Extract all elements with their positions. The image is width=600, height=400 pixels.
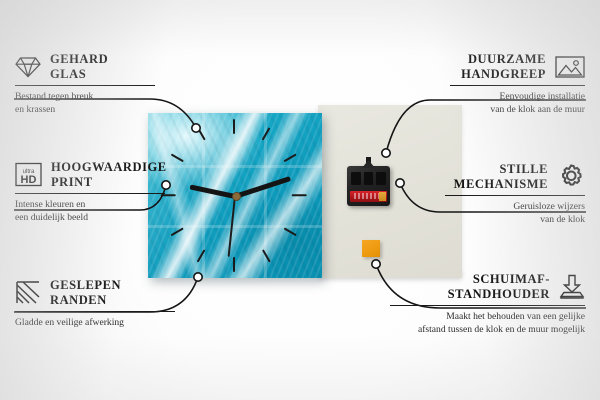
diamond-icon (15, 56, 41, 78)
feature-high-quality-print: ultra HD HOOGWAARDIGE PRINT Intense kleu… (15, 160, 165, 224)
feature-silent-mechanism: STILLE MECHANISME Geruisloze wijzers van… (445, 162, 585, 226)
feature-title: GEHARD GLAS (50, 52, 108, 81)
feature-divider (445, 195, 585, 196)
feature-head: GEHARD GLAS (15, 52, 155, 81)
feature-description: Bestand tegen breuk en krassen (15, 91, 155, 116)
connector-tempered-glass (192, 124, 200, 132)
picture-frame-icon (555, 55, 585, 79)
feature-tempered-glass: GEHARD GLAS Bestand tegen breuk en krass… (15, 52, 155, 116)
connector-durable-hanger (382, 149, 390, 157)
feature-description: Eenvoudige installatie van de klok aan d… (450, 91, 585, 116)
infographic-canvas: GEHARD GLAS Bestand tegen breuk en krass… (0, 0, 600, 400)
feature-head: GESLEPEN RANDEN (15, 278, 175, 307)
diagonal-lines-icon (15, 281, 41, 304)
feature-description: Maakt het behouden van een gelijke afsta… (390, 311, 585, 336)
connector-ground-edges (194, 273, 202, 281)
feature-title: DUURZAME HANDGREEP (461, 52, 546, 81)
feature-divider (15, 311, 175, 312)
feature-title: STILLE MECHANISME (454, 162, 548, 191)
connector-foam-spacer (372, 260, 380, 268)
feature-divider (450, 85, 585, 86)
feature-description: Geruisloze wijzers van de klok (445, 201, 585, 226)
feature-description: Gladde en veilige afwerking (15, 317, 175, 329)
feature-description: Intense kleuren en een duidelijk beeld (15, 199, 165, 224)
feature-foam-spacer: SCHUIMAF- STANDHOUDER Maakt het behouden… (390, 272, 585, 336)
feature-head: DUURZAME HANDGREEP (450, 52, 585, 81)
down-arrow-pad-icon (559, 274, 585, 300)
feature-head: STILLE MECHANISME (445, 162, 585, 191)
feature-head: SCHUIMAF- STANDHOUDER (390, 272, 585, 301)
svg-text:HD: HD (21, 174, 37, 186)
feature-divider (15, 193, 165, 194)
feature-title: GESLEPEN RANDEN (50, 278, 121, 307)
feature-divider (390, 305, 585, 306)
connector-silent-mechanism (396, 179, 404, 187)
ultra-hd-icon: ultra HD (15, 162, 42, 187)
feature-title: HOOGWAARDIGE PRINT (51, 160, 167, 189)
feature-head: ultra HD HOOGWAARDIGE PRINT (15, 160, 165, 189)
feature-divider (15, 85, 155, 86)
feature-title: SCHUIMAF- STANDHOUDER (448, 272, 550, 301)
gear-icon (557, 163, 585, 191)
feature-ground-edges: GESLEPEN RANDEN Gladde en veilige afwerk… (15, 278, 175, 330)
feature-durable-hanger: DUURZAME HANDGREEP Eenvoudige installati… (450, 52, 585, 116)
